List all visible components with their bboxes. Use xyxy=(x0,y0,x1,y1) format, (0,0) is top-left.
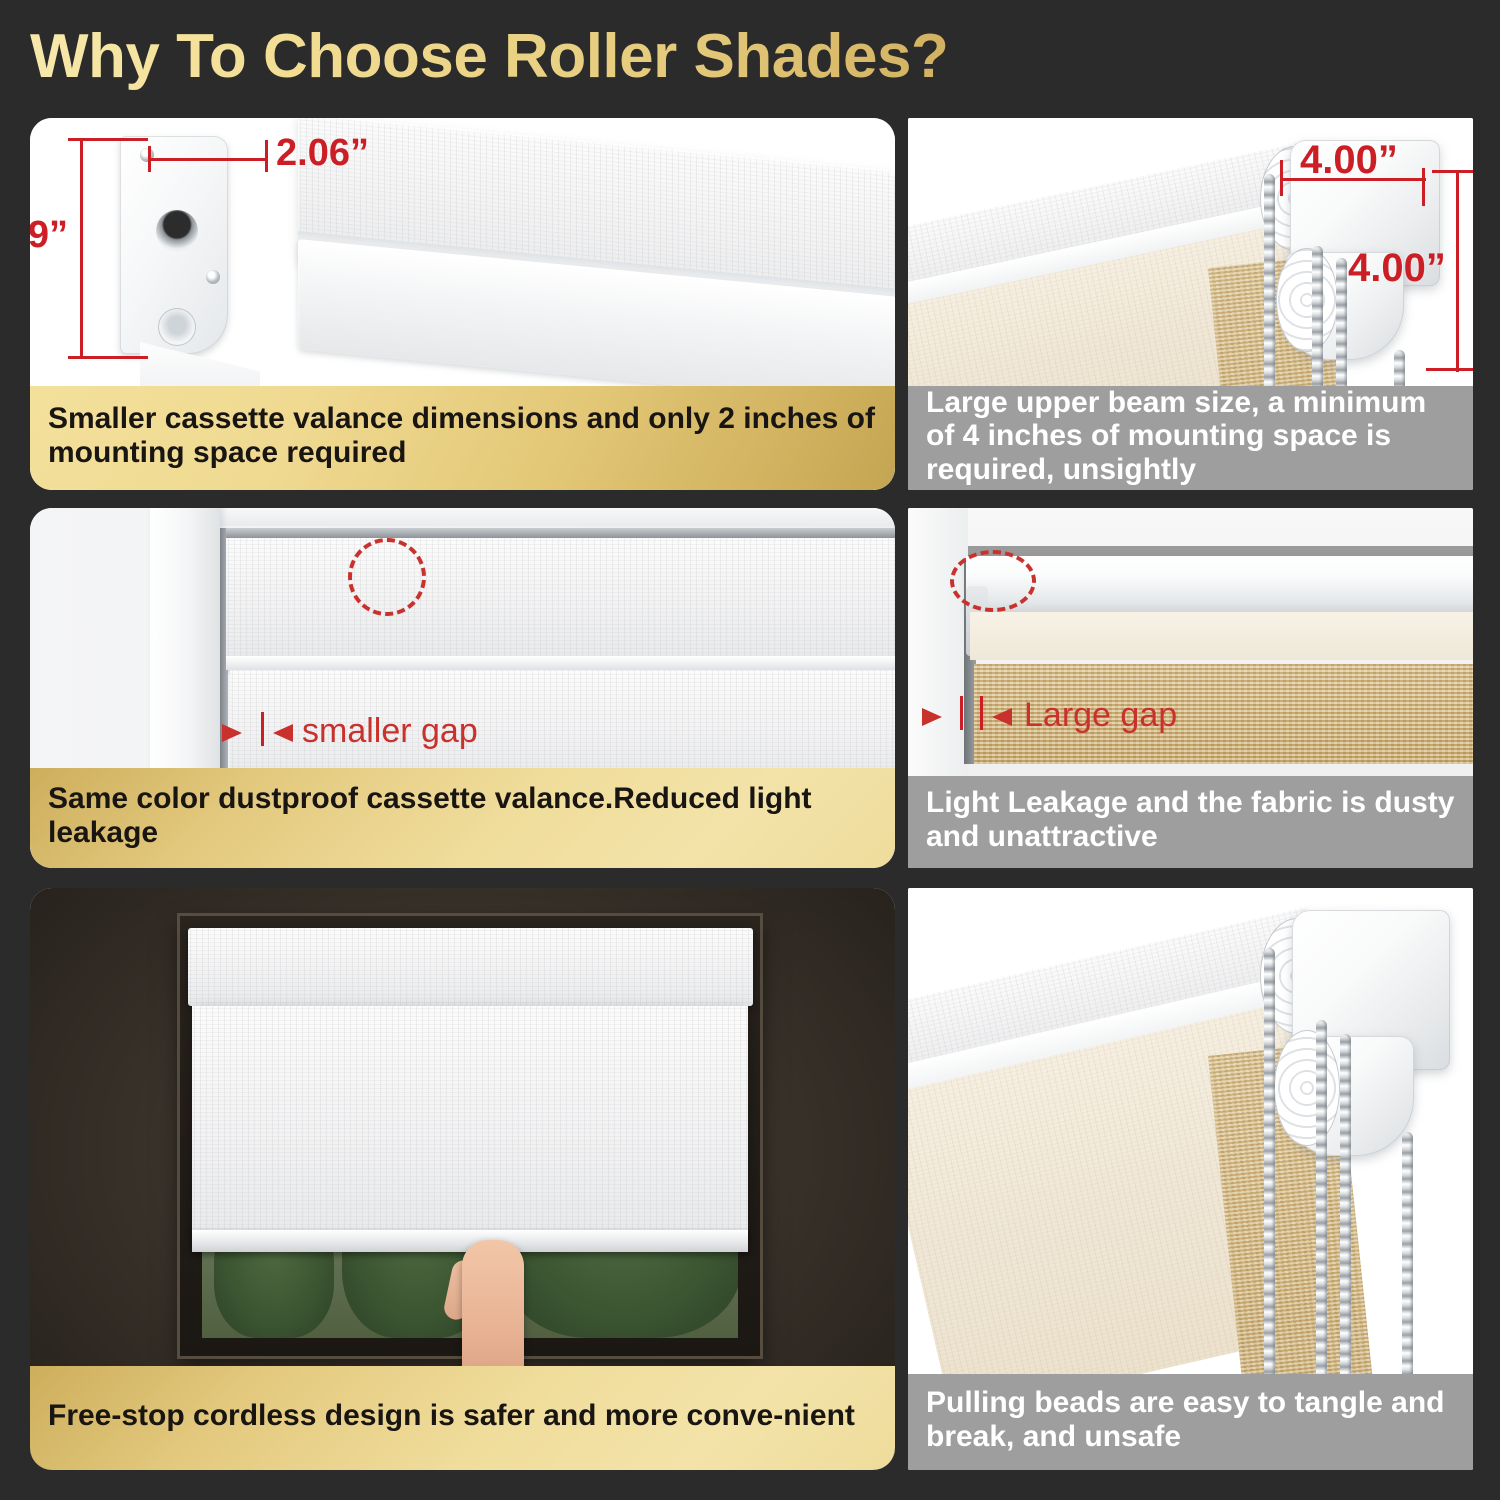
shade-mid-rail xyxy=(226,656,895,670)
panel-caption-smaller-cassette: Smaller cassette valance dimensions and … xyxy=(30,386,895,490)
roller-tube xyxy=(966,556,1473,614)
gap-arrow-left xyxy=(922,708,942,726)
panel-caption-dustproof-valance: Same color dustproof cassette valance.Re… xyxy=(30,768,895,868)
panel-dustproof-valance: smaller gap Same color dustproof cassett… xyxy=(30,508,895,868)
cream-fabric-band xyxy=(970,612,1473,660)
shade-fabric-body xyxy=(192,1006,748,1236)
panel-smaller-cassette: 2.06” 5.49” Smaller cassette valance dim… xyxy=(30,118,895,490)
caption-text: Light Leakage and the fabric is dusty an… xyxy=(926,786,1455,853)
height-dimension-label: 5.49” xyxy=(30,214,68,257)
caption-text: Same color dustproof cassette valance.Re… xyxy=(48,782,877,849)
panel-caption-light-leakage: Light Leakage and the fabric is dusty an… xyxy=(908,776,1473,868)
page-title: Why To Choose Roller Shades? xyxy=(30,18,1230,96)
caption-text: Large upper beam size, a minimum of 4 in… xyxy=(926,386,1455,487)
panel-large-upper-beam: 4.00” 4.00” Large upper beam size, a min… xyxy=(908,118,1473,490)
gap-marker-line xyxy=(261,712,264,746)
beam-width-tick-left xyxy=(1280,160,1283,196)
beam-height-tick-bottom xyxy=(1426,368,1473,371)
pull-chain-2 xyxy=(1316,1020,1327,1418)
cassette-valance-fabric xyxy=(226,538,895,660)
gap-arrow-right xyxy=(273,724,293,742)
roller-wheel-lower xyxy=(1276,248,1338,352)
gap-marker-line-2 xyxy=(980,696,983,730)
pull-chain-3 xyxy=(1340,1034,1351,1418)
roller-wheel-lower xyxy=(1274,1030,1340,1146)
gap-arrow-right xyxy=(992,708,1012,726)
caption-text: Smaller cassette valance dimensions and … xyxy=(48,402,877,469)
bracket-socket-upper xyxy=(156,210,198,252)
infographic-root: Why To Choose Roller Shades? 2.06” 5.49” xyxy=(0,0,1500,1500)
beam-height-tick-top xyxy=(1432,170,1473,173)
window-casing-left xyxy=(150,508,220,778)
width-dimension-label: 2.06” xyxy=(276,132,369,175)
height-dimension-tick-bottom xyxy=(68,356,148,359)
panel-light-leakage: Large gap Light Leakage and the fabric i… xyxy=(908,508,1473,868)
pull-chain-1 xyxy=(1264,948,1275,1418)
beam-width-tick-right xyxy=(1422,168,1425,206)
panel-cordless-design: Free-stop cordless design is safer and m… xyxy=(30,888,895,1470)
gap-highlight-circle xyxy=(348,538,426,616)
height-dimension-rule xyxy=(80,138,83,358)
shade-cassette-valance xyxy=(188,928,753,1006)
panel-caption-pulling-beads: Pulling beads are easy to tangle and bre… xyxy=(908,1374,1473,1470)
height-dimension-tick-top xyxy=(68,138,148,141)
gap-callout-label: Large gap xyxy=(1024,696,1177,735)
bracket-socket-lower xyxy=(158,308,196,346)
shade-headrail xyxy=(226,528,895,538)
panel-caption-cordless-design: Free-stop cordless design is safer and m… xyxy=(30,1366,895,1470)
panel-caption-large-beam: Large upper beam size, a minimum of 4 in… xyxy=(908,386,1473,490)
beam-width-label: 4.00” xyxy=(1300,138,1398,183)
width-dimension-tick-right xyxy=(265,140,268,172)
bracket-screw-mid xyxy=(206,270,220,284)
window-casing-top xyxy=(150,508,895,526)
width-dimension-rule xyxy=(148,158,268,161)
panel-pulling-beads: Pulling beads are easy to tangle and bre… xyxy=(908,888,1473,1470)
gap-callout-label: smaller gap xyxy=(302,712,478,751)
beam-height-rule xyxy=(1456,170,1459,372)
caption-text: Free-stop cordless design is safer and m… xyxy=(48,1399,877,1433)
gap-arrow-left xyxy=(222,724,242,742)
gap-highlight-circle xyxy=(950,550,1036,612)
gap-marker-line-1 xyxy=(960,696,963,730)
beam-height-label: 4.00” xyxy=(1348,246,1446,291)
width-dimension-tick-left xyxy=(148,146,151,172)
caption-text: Pulling beads are easy to tangle and bre… xyxy=(926,1386,1455,1453)
